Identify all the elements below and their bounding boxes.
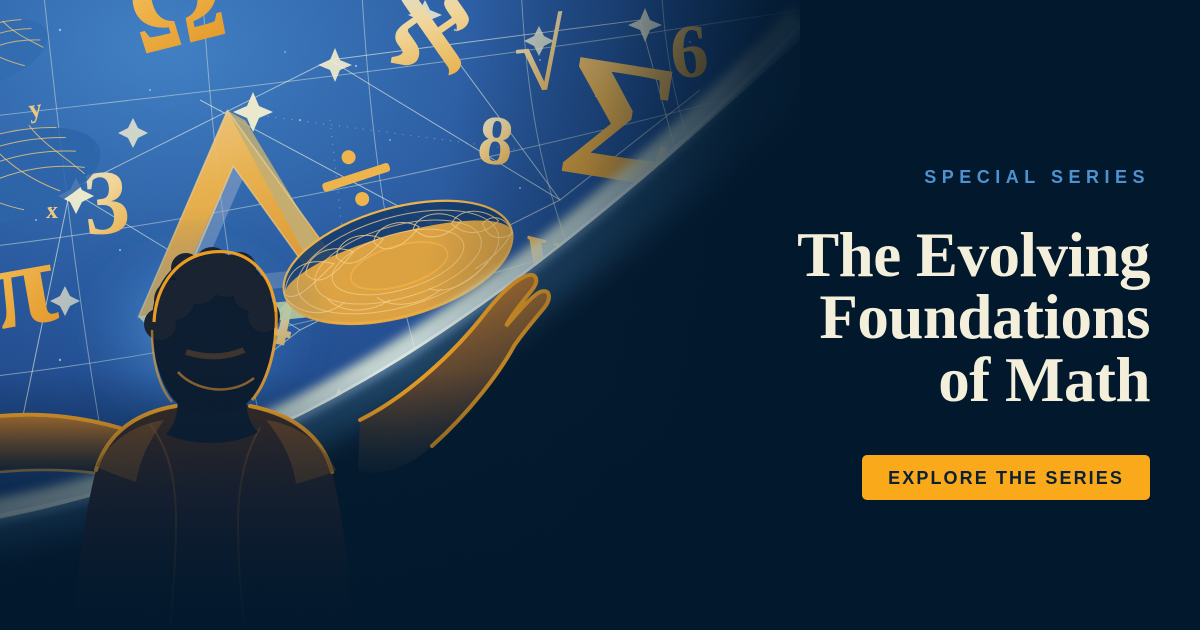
banner-text-column: SPECIAL SERIES The Evolving Foundations …: [670, 0, 1150, 630]
explore-series-button[interactable]: EXPLORE THE SERIES: [862, 455, 1150, 500]
headline-line-1: The Evolving: [797, 224, 1150, 286]
promo-banner: Ω ℵ √ Σ 6 8 3 4 π y y x: [0, 0, 1200, 630]
series-kicker: SPECIAL SERIES: [924, 168, 1150, 186]
headline-line-3: of Math: [797, 349, 1150, 411]
page-title: The Evolving Foundations of Math: [797, 224, 1150, 411]
headline-line-2: Foundations: [797, 286, 1150, 348]
